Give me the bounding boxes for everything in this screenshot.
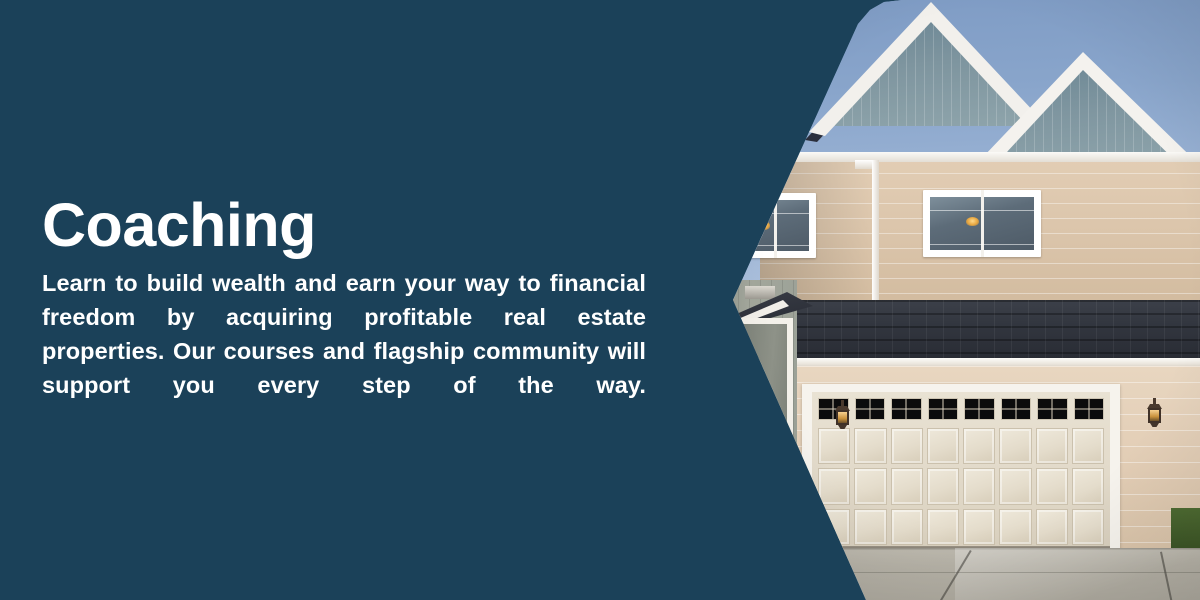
garage-panel bbox=[999, 428, 1031, 464]
garage-door-panel-grid bbox=[818, 428, 1104, 545]
garage-door-window-row bbox=[818, 398, 1104, 420]
window-light-reflection bbox=[757, 221, 770, 230]
garage-panel bbox=[999, 468, 1031, 504]
garage-panel bbox=[1072, 468, 1104, 504]
garage-panel bbox=[927, 509, 959, 545]
lantern-base bbox=[1150, 423, 1159, 427]
coaching-hero-banner: Coaching Learn to build wealth and earn … bbox=[0, 0, 1200, 600]
garage-door bbox=[812, 392, 1110, 550]
garage-window-pane bbox=[1037, 398, 1068, 420]
lantern-base bbox=[838, 425, 847, 429]
lantern-arm bbox=[1153, 398, 1156, 405]
lantern-body bbox=[836, 410, 849, 425]
hero-copy-block: Coaching Learn to build wealth and earn … bbox=[42, 190, 646, 436]
garage-panel-row bbox=[818, 468, 1104, 504]
upper-window-left bbox=[728, 193, 816, 258]
window-grid-line bbox=[735, 245, 809, 246]
garage-panel bbox=[1036, 428, 1068, 464]
garage-window-pane bbox=[891, 398, 922, 420]
window-mullion bbox=[774, 193, 777, 258]
lantern-body bbox=[1148, 408, 1161, 423]
garage-panel bbox=[854, 428, 886, 464]
garage-panel bbox=[963, 428, 995, 464]
garage-panel bbox=[963, 468, 995, 504]
garage-window-pane bbox=[1001, 398, 1032, 420]
mulch-bed bbox=[765, 520, 835, 536]
garage-panel bbox=[927, 468, 959, 504]
garage-panel bbox=[1036, 468, 1068, 504]
garage-panel bbox=[927, 428, 959, 464]
side-door bbox=[741, 324, 787, 514]
garage-window-pane bbox=[928, 398, 959, 420]
window-mullion bbox=[981, 190, 984, 257]
window-grid-line bbox=[735, 213, 809, 214]
garage-panel bbox=[963, 509, 995, 545]
window-grid-line bbox=[930, 244, 1034, 245]
upper-window-right bbox=[923, 190, 1041, 257]
garage-panel bbox=[1072, 509, 1104, 545]
garage-panel bbox=[891, 428, 923, 464]
garage-window-pane bbox=[855, 398, 886, 420]
upper-fascia-band bbox=[760, 152, 1200, 162]
garage-panel bbox=[1036, 509, 1068, 545]
side-wing-vent bbox=[745, 286, 775, 299]
garage-panel-row bbox=[818, 509, 1104, 545]
window-glass bbox=[735, 200, 809, 251]
side-door-handle bbox=[745, 392, 759, 401]
garage-panel bbox=[1072, 428, 1104, 464]
hero-description: Learn to build wealth and earn your way … bbox=[42, 266, 646, 436]
garage-panel bbox=[999, 509, 1031, 545]
garage-window-pane bbox=[964, 398, 995, 420]
window-grid-line bbox=[930, 210, 1034, 211]
garage-window-pane bbox=[1074, 398, 1105, 420]
garage-panel bbox=[818, 428, 850, 464]
driveway-sheen bbox=[955, 548, 1200, 600]
wall-lantern-icon bbox=[833, 400, 851, 430]
wall-lantern-icon bbox=[1145, 398, 1163, 428]
driveway-joint-line bbox=[705, 572, 1200, 573]
garage-panel-row bbox=[818, 428, 1104, 464]
garage-panel bbox=[891, 468, 923, 504]
page-title: Coaching bbox=[42, 190, 646, 260]
lawn-strip bbox=[1171, 508, 1200, 548]
window-light-reflection bbox=[966, 217, 979, 226]
garage-panel bbox=[891, 509, 923, 545]
garage-panel bbox=[818, 509, 850, 545]
garage-panel bbox=[854, 509, 886, 545]
house-photo bbox=[705, 0, 1200, 600]
downspout bbox=[872, 160, 879, 305]
lantern-arm bbox=[841, 400, 844, 407]
garage-panel bbox=[854, 468, 886, 504]
garage-panel bbox=[818, 468, 850, 504]
